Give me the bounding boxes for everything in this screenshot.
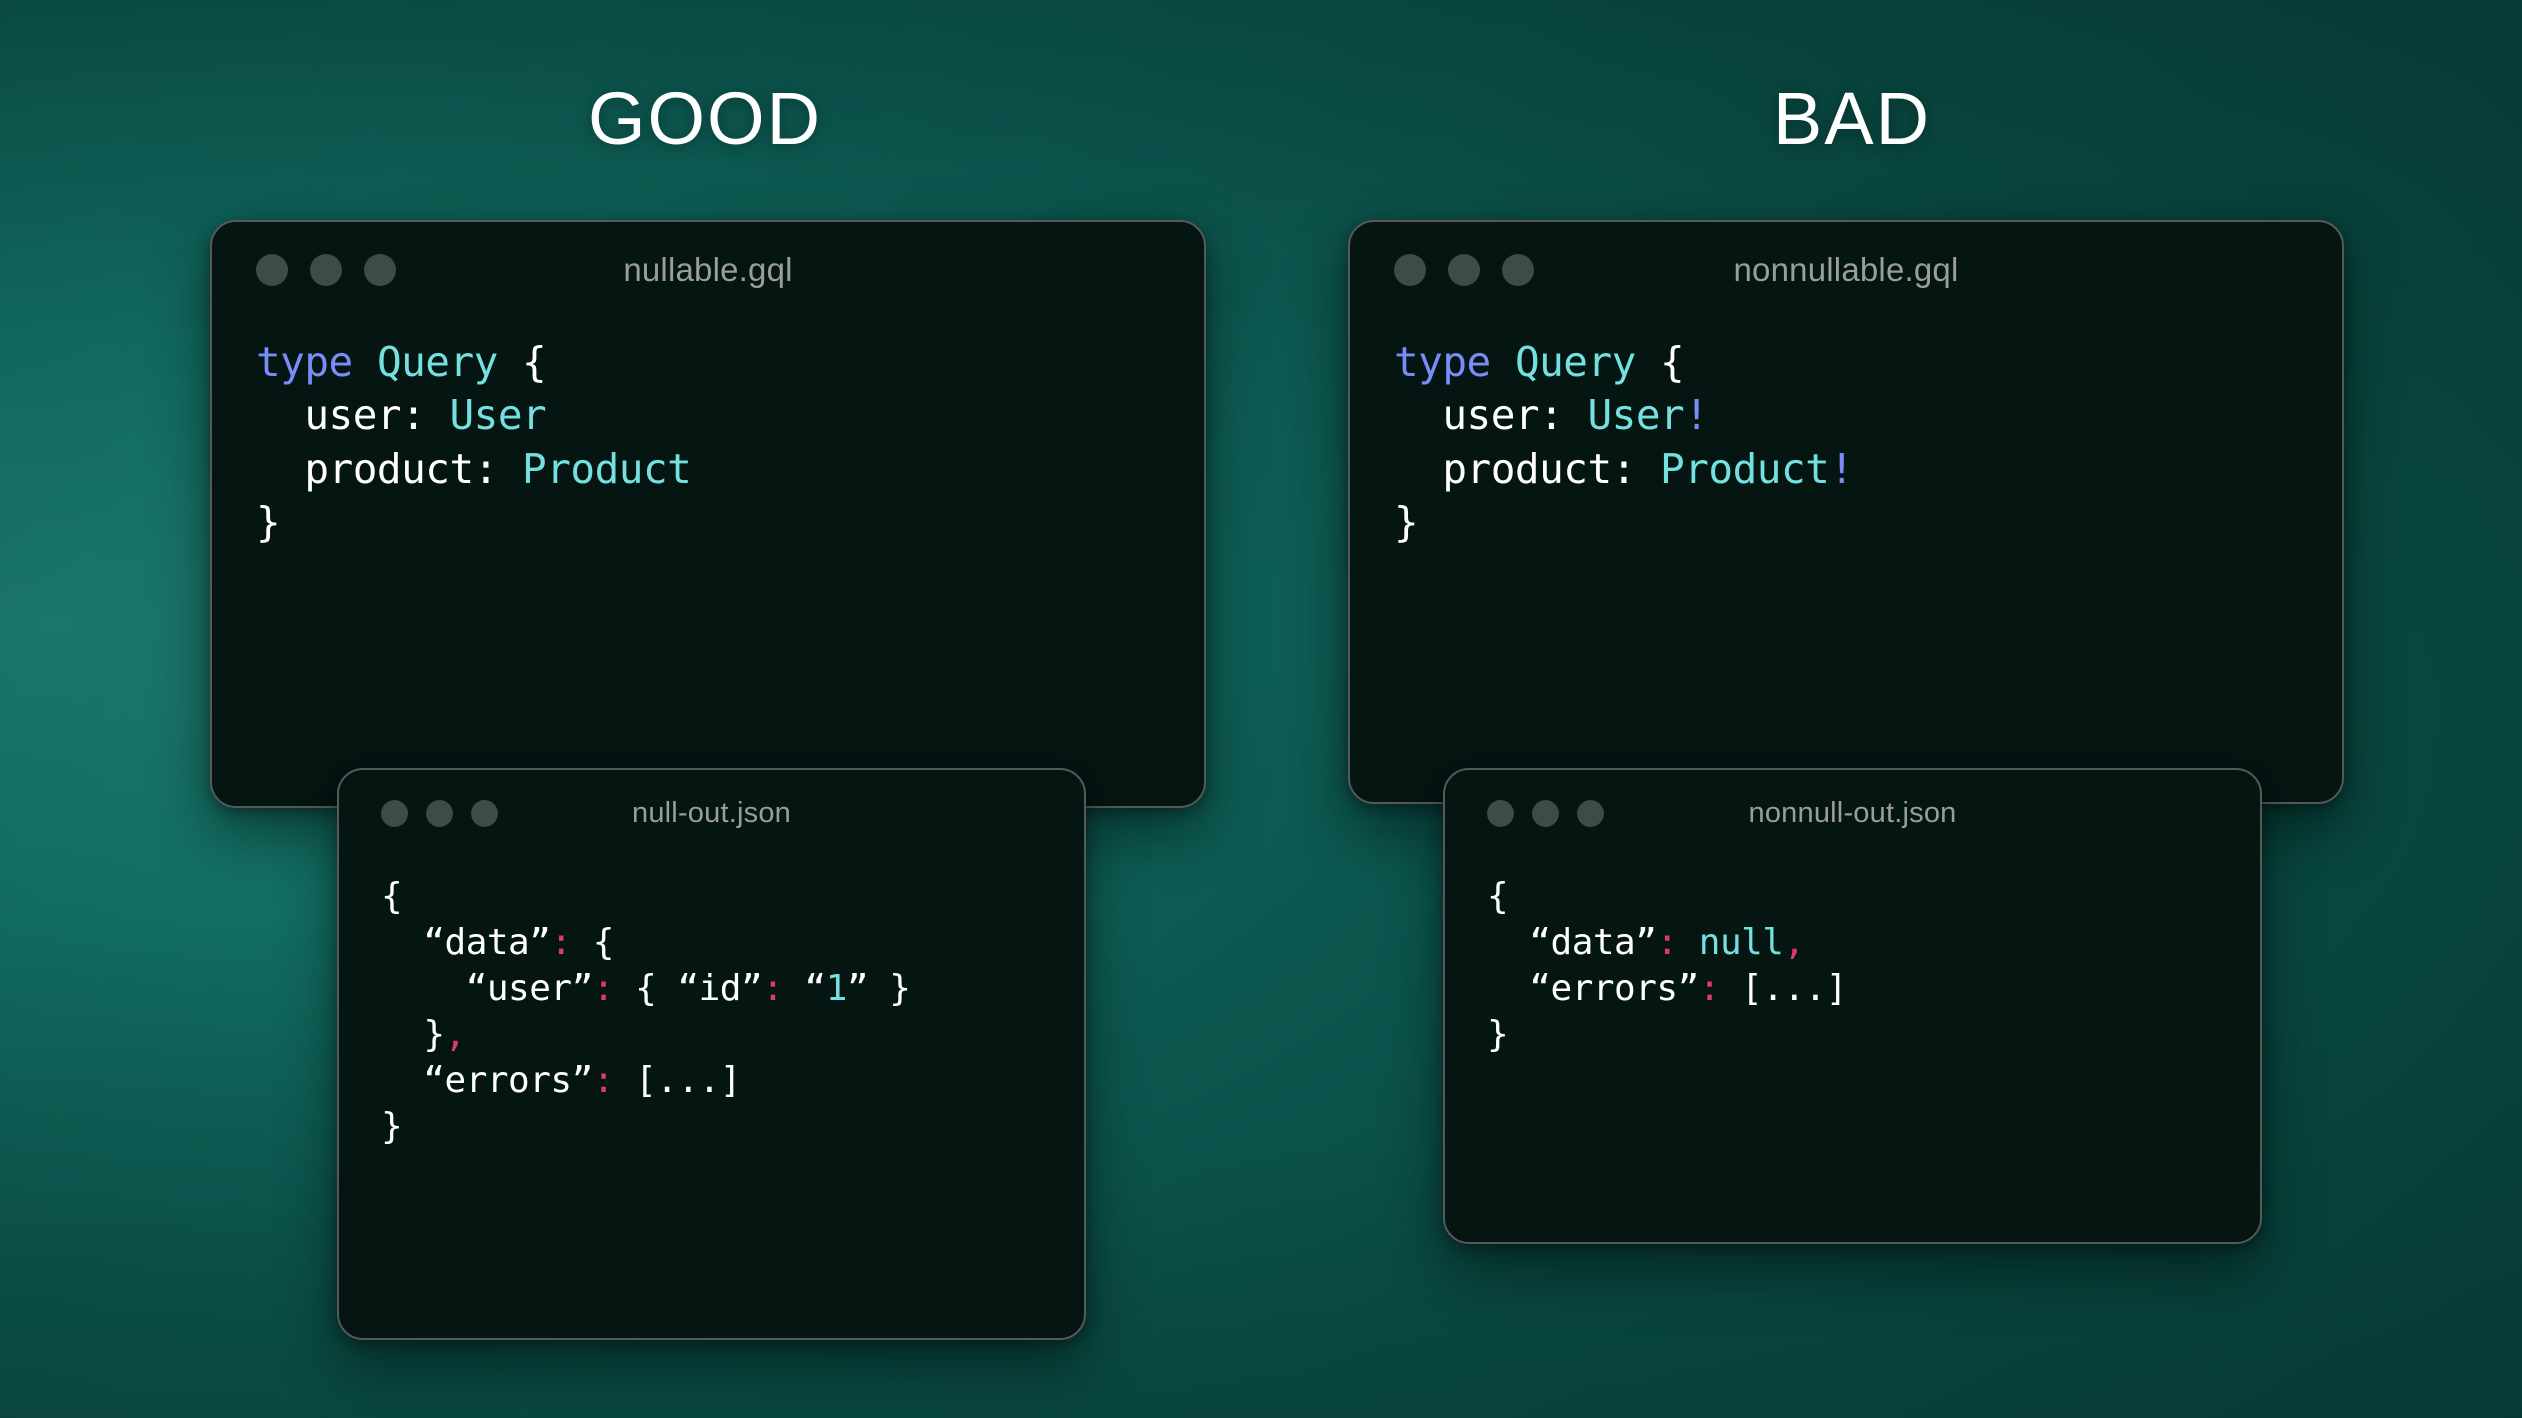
minimize-icon[interactable]	[1532, 800, 1559, 827]
code-window-nonnullable-gql[interactable]: nonnullable.gql type Query { user: User!…	[1348, 220, 2344, 804]
window-controls	[381, 800, 498, 827]
minimize-icon[interactable]	[426, 800, 453, 827]
code-window-nullable-gql[interactable]: nullable.gql type Query { user: User pro…	[210, 220, 1206, 808]
maximize-icon[interactable]	[364, 254, 396, 286]
maximize-icon[interactable]	[1502, 254, 1534, 286]
code-content[interactable]: { “data”: null, “errors”: [...] }	[1445, 874, 2260, 1058]
code-content[interactable]: { “data”: { “user”: { “id”: “1” } }, “er…	[339, 874, 1084, 1150]
column-heading-good: GOOD	[588, 82, 822, 156]
window-titlebar: null-out.json	[339, 770, 1084, 856]
close-icon[interactable]	[381, 800, 408, 827]
code-window-null-out-json[interactable]: null-out.json { “data”: { “user”: { “id”…	[337, 768, 1086, 1340]
code-area: type Query { user: User product: Product…	[212, 318, 1204, 549]
column-heading-bad: BAD	[1773, 82, 1931, 156]
minimize-icon[interactable]	[310, 254, 342, 286]
code-content[interactable]: type Query { user: User! product: Produc…	[1350, 336, 2342, 549]
window-controls	[1394, 254, 1534, 286]
minimize-icon[interactable]	[1448, 254, 1480, 286]
close-icon[interactable]	[1487, 800, 1514, 827]
window-controls	[1487, 800, 1604, 827]
close-icon[interactable]	[1394, 254, 1426, 286]
code-area: { “data”: null, “errors”: [...] }	[1445, 856, 2260, 1058]
code-window-nonnull-out-json[interactable]: nonnull-out.json { “data”: null, “errors…	[1443, 768, 2262, 1244]
close-icon[interactable]	[256, 254, 288, 286]
code-area: { “data”: { “user”: { “id”: “1” } }, “er…	[339, 856, 1084, 1150]
maximize-icon[interactable]	[1577, 800, 1604, 827]
code-area: type Query { user: User! product: Produc…	[1350, 318, 2342, 549]
code-content[interactable]: type Query { user: User product: Product…	[212, 336, 1204, 549]
window-controls	[256, 254, 396, 286]
window-titlebar: nullable.gql	[212, 222, 1204, 318]
maximize-icon[interactable]	[471, 800, 498, 827]
window-titlebar: nonnullable.gql	[1350, 222, 2342, 318]
window-titlebar: nonnull-out.json	[1445, 770, 2260, 856]
